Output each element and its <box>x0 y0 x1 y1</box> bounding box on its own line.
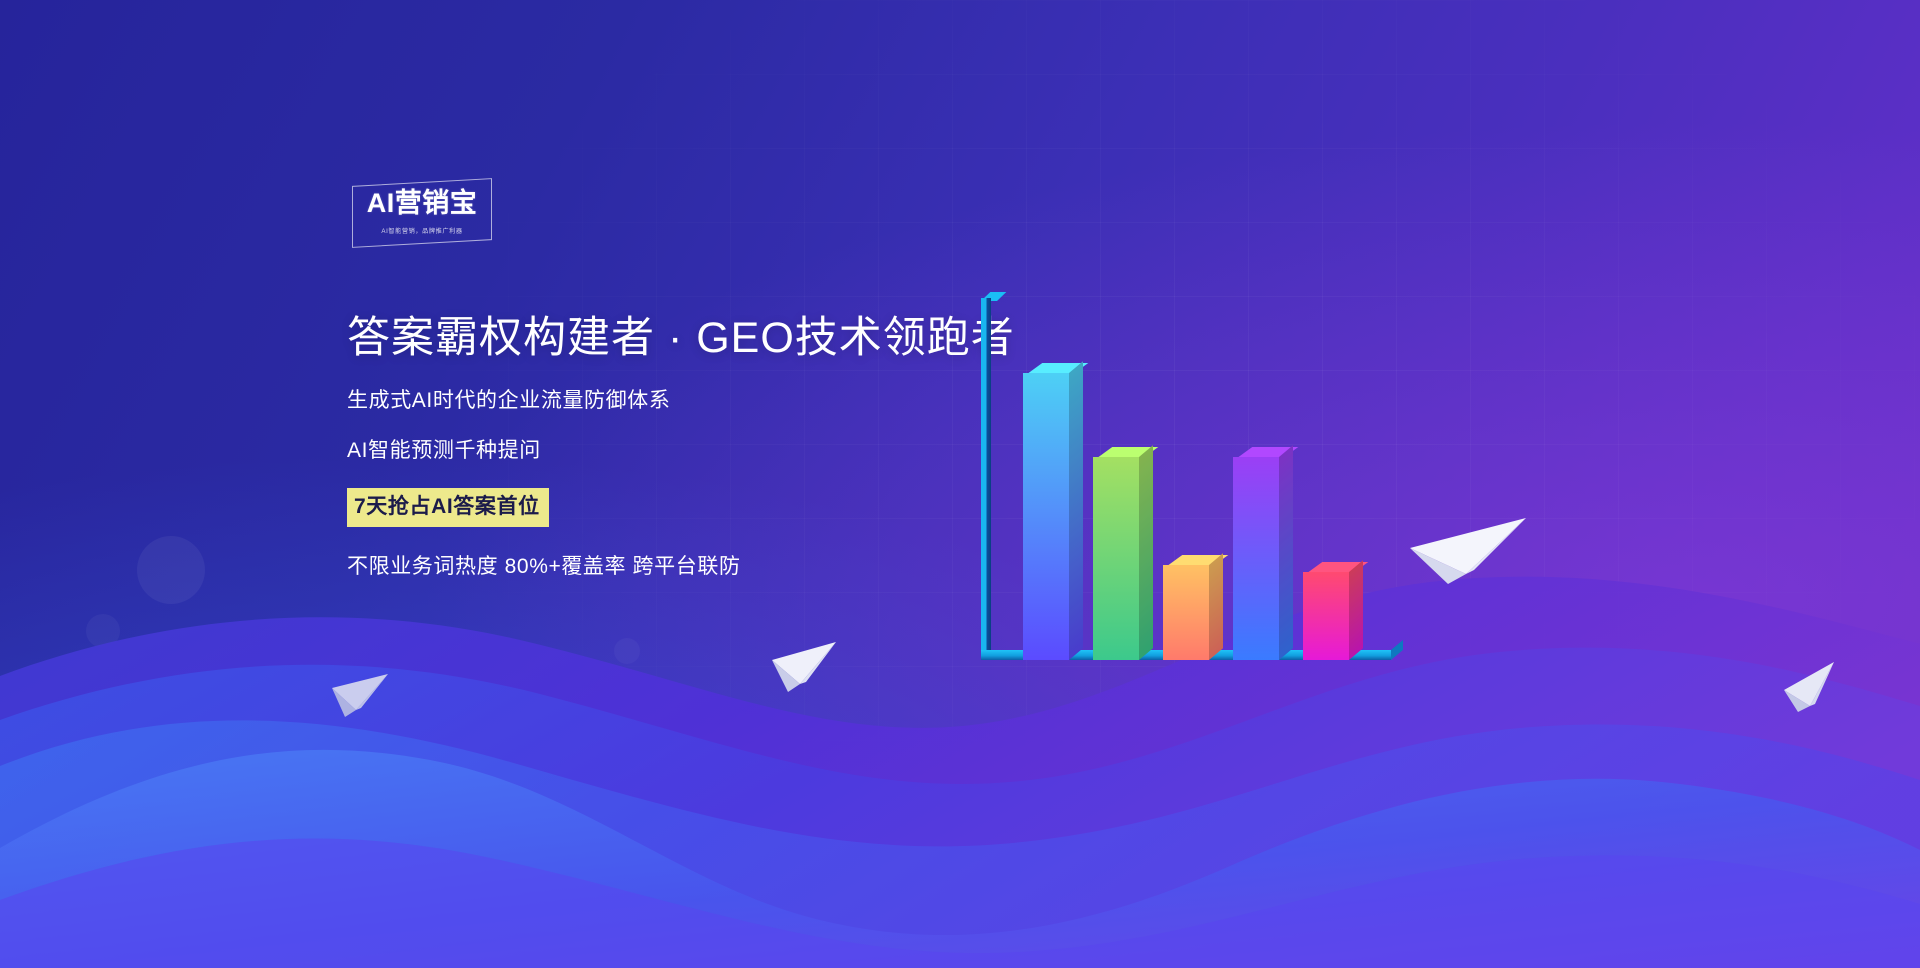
chart-bar-front <box>1163 565 1209 660</box>
brand-logo[interactable]: AI营销宝 AI智能营销，品牌推广利器 <box>352 182 492 244</box>
hero-banner: AI营销宝 AI智能营销，品牌推广利器 答案霸权构建者 · GEO技术领跑者 生… <box>0 0 1920 968</box>
chart-bar-side <box>1139 445 1153 660</box>
chart-bar-side <box>1069 361 1083 660</box>
paper-plane-icon <box>770 640 840 700</box>
hero-line-highlight: 7天抢占AI答案首位 <box>347 488 549 527</box>
paper-plane-icon <box>1782 660 1844 718</box>
list-item: 不限业务词热度 80%+覆盖率 跨平台联防 <box>347 549 1067 581</box>
chart-bar <box>1093 457 1139 660</box>
chart-x-axis-cap <box>1391 640 1403 660</box>
wave-band <box>0 548 1920 968</box>
logo-wordmark: AI营销宝 <box>352 190 492 217</box>
list-item: AI智能预测千种提问 <box>347 437 1067 465</box>
chart-bar-front <box>1233 457 1279 660</box>
chart-y-axis <box>981 298 991 658</box>
hero-line-4: 不限业务词热度 80%+覆盖率 跨平台联防 <box>347 553 741 581</box>
chart-bar-front <box>1303 572 1349 660</box>
hero-line-2: AI智能预测千种提问 <box>347 437 541 465</box>
paper-plane-icon <box>330 672 392 724</box>
bar-chart <box>975 290 1455 670</box>
hero-feature-list: 生成式AI时代的企业流量防御体系 AI智能预测千种提问 7天抢占AI答案首位 不… <box>347 387 1067 581</box>
chart-bar-side <box>1279 445 1293 660</box>
chart-bar-side <box>1349 560 1363 660</box>
chart-bar <box>1303 572 1349 660</box>
chart-bar <box>1023 373 1069 660</box>
list-item: 生成式AI时代的企业流量防御体系 <box>347 387 1067 415</box>
chart-bar <box>1163 565 1209 660</box>
hero-copy: 答案霸权构建者 · GEO技术领跑者 生成式AI时代的企业流量防御体系 AI智能… <box>347 314 1067 603</box>
chart-bar-front <box>1023 373 1069 660</box>
logo-tagline: AI智能营销，品牌推广利器 <box>356 225 489 235</box>
chart-bar-side <box>1209 553 1223 660</box>
chart-bar <box>1233 457 1279 660</box>
chart-bar-front <box>1093 457 1139 660</box>
list-item: 7天抢占AI答案首位 <box>347 488 1067 527</box>
page-title: 答案霸权构建者 · GEO技术领跑者 <box>347 314 1067 363</box>
paper-plane-icon <box>1408 512 1528 592</box>
hero-line-1: 生成式AI时代的企业流量防御体系 <box>347 387 670 415</box>
